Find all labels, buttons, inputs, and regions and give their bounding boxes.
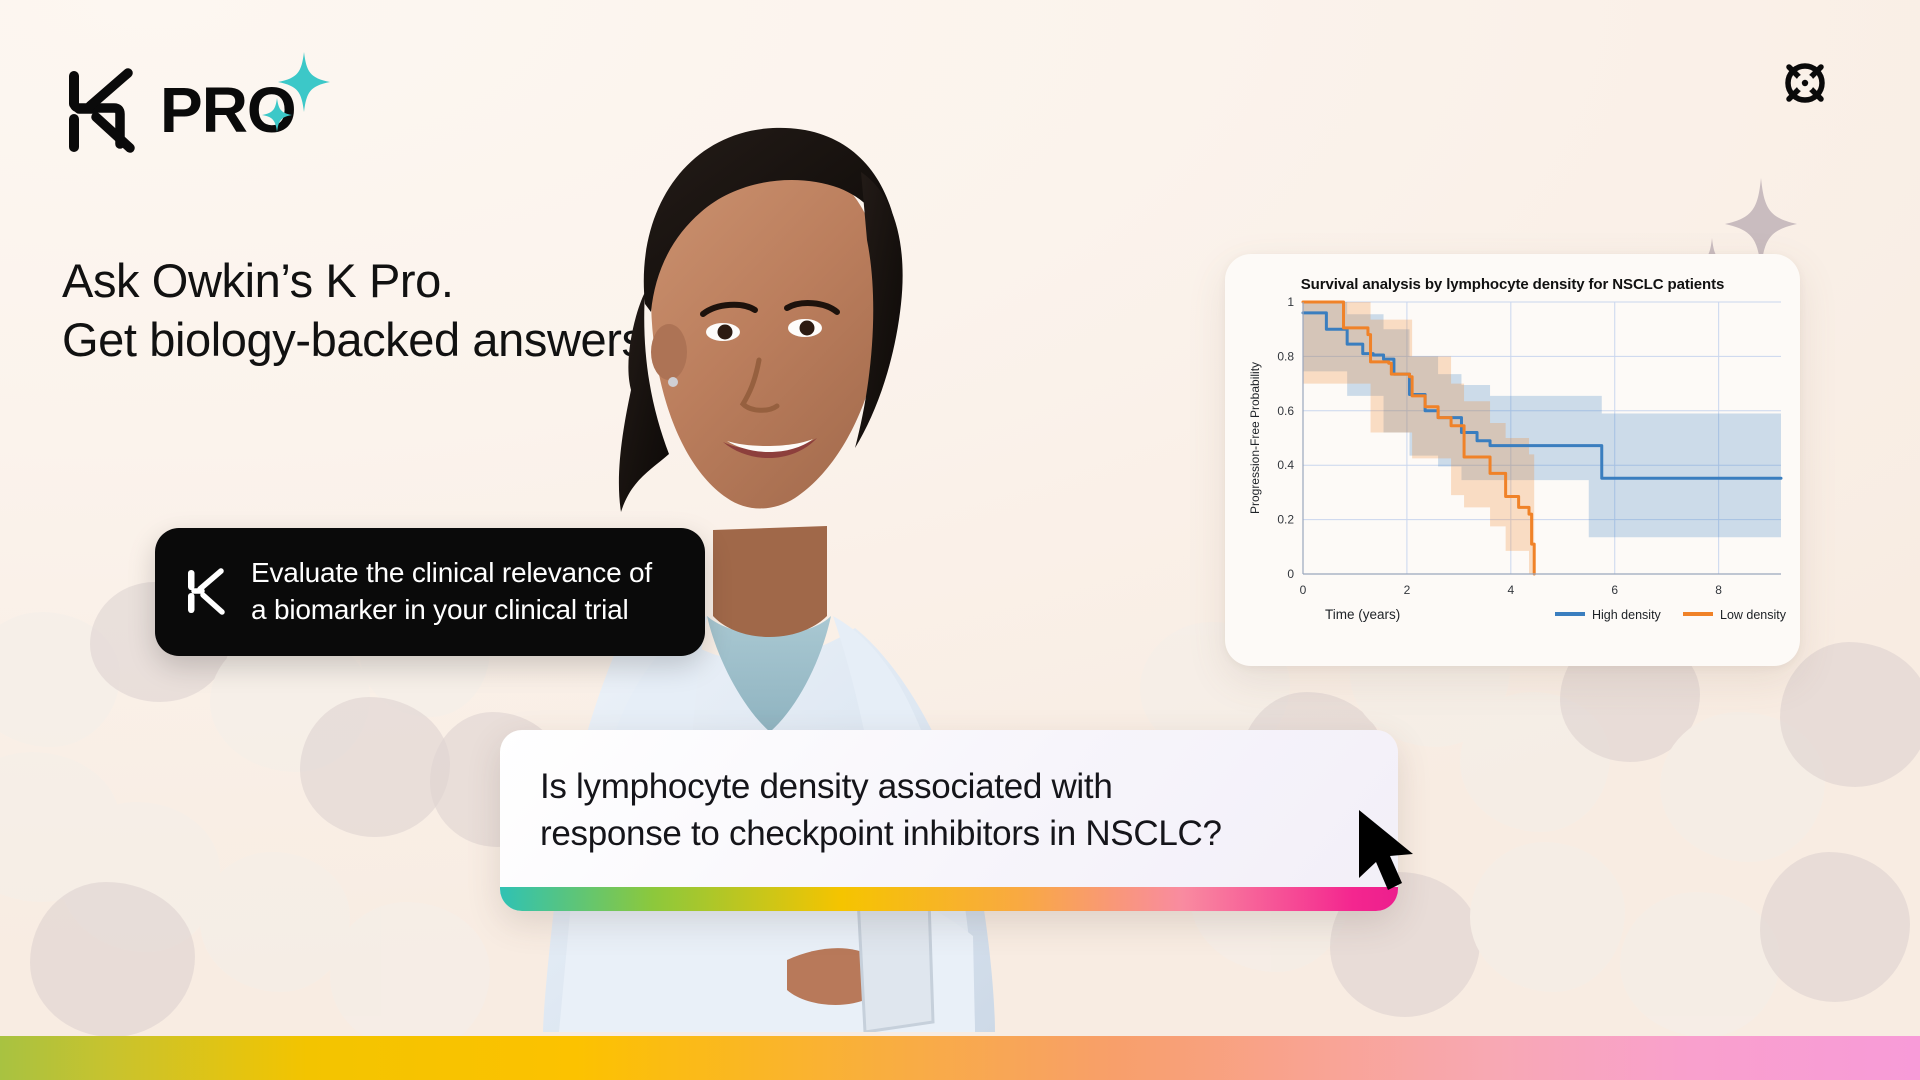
x-tick-label: 0 (1300, 583, 1307, 597)
callout-card[interactable]: Evaluate the clinical relevance of a bio… (155, 528, 705, 656)
k-pro-logo: PRO (60, 62, 296, 158)
question-prompt-card[interactable]: Is lymphocyte density associated with re… (500, 730, 1398, 911)
x-tick-label: 8 (1715, 583, 1722, 597)
owkin-circle-x-mark-icon (1778, 56, 1832, 110)
y-tick-label: 0.4 (1277, 458, 1294, 472)
y-tick-label: 0 (1287, 567, 1294, 581)
y-tick-label: 0.8 (1277, 349, 1294, 363)
owkin-k-logo-icon (60, 62, 146, 158)
x-axis-label: Time (years) (1325, 607, 1400, 622)
gradient-accent-bar (500, 887, 1398, 911)
x-tick-label: 2 (1404, 583, 1411, 597)
y-axis-label: Progression-Free Probability (1248, 362, 1262, 514)
bottom-gradient-bar (0, 1036, 1920, 1080)
question-text: Is lymphocyte density associated with re… (500, 730, 1398, 887)
promo-banner: PRO Ask Owkin’s K Pro. Get biology-backe… (0, 0, 1920, 1080)
chart-title: Survival analysis by lymphocyte density … (1225, 276, 1800, 293)
sparkle-icon (262, 98, 292, 137)
owkin-k-logo-icon (183, 565, 229, 617)
survival-chart[interactable]: 0246800.20.40.60.81Time (years)Progressi… (1225, 254, 1800, 666)
y-tick-label: 1 (1287, 295, 1294, 309)
y-tick-label: 0.6 (1277, 404, 1294, 418)
y-tick-label: 0.2 (1277, 513, 1294, 527)
callout-line-1: Evaluate the clinical relevance of (251, 557, 652, 588)
survival-chart-card[interactable]: Survival analysis by lymphocyte density … (1225, 254, 1800, 666)
x-tick-label: 6 (1611, 583, 1618, 597)
x-tick-label: 4 (1507, 583, 1514, 597)
legend-label: High density (1592, 608, 1662, 622)
callout-line-2: a biomarker in your clinical trial (251, 594, 629, 625)
question-line-1: Is lymphocyte density associated with (540, 767, 1113, 806)
mouse-pointer-icon (1355, 808, 1419, 894)
callout-text: Evaluate the clinical relevance of a bio… (251, 554, 652, 628)
legend-label: Low density (1720, 608, 1787, 622)
question-line-2: response to checkpoint inhibitors in NSC… (540, 814, 1222, 853)
